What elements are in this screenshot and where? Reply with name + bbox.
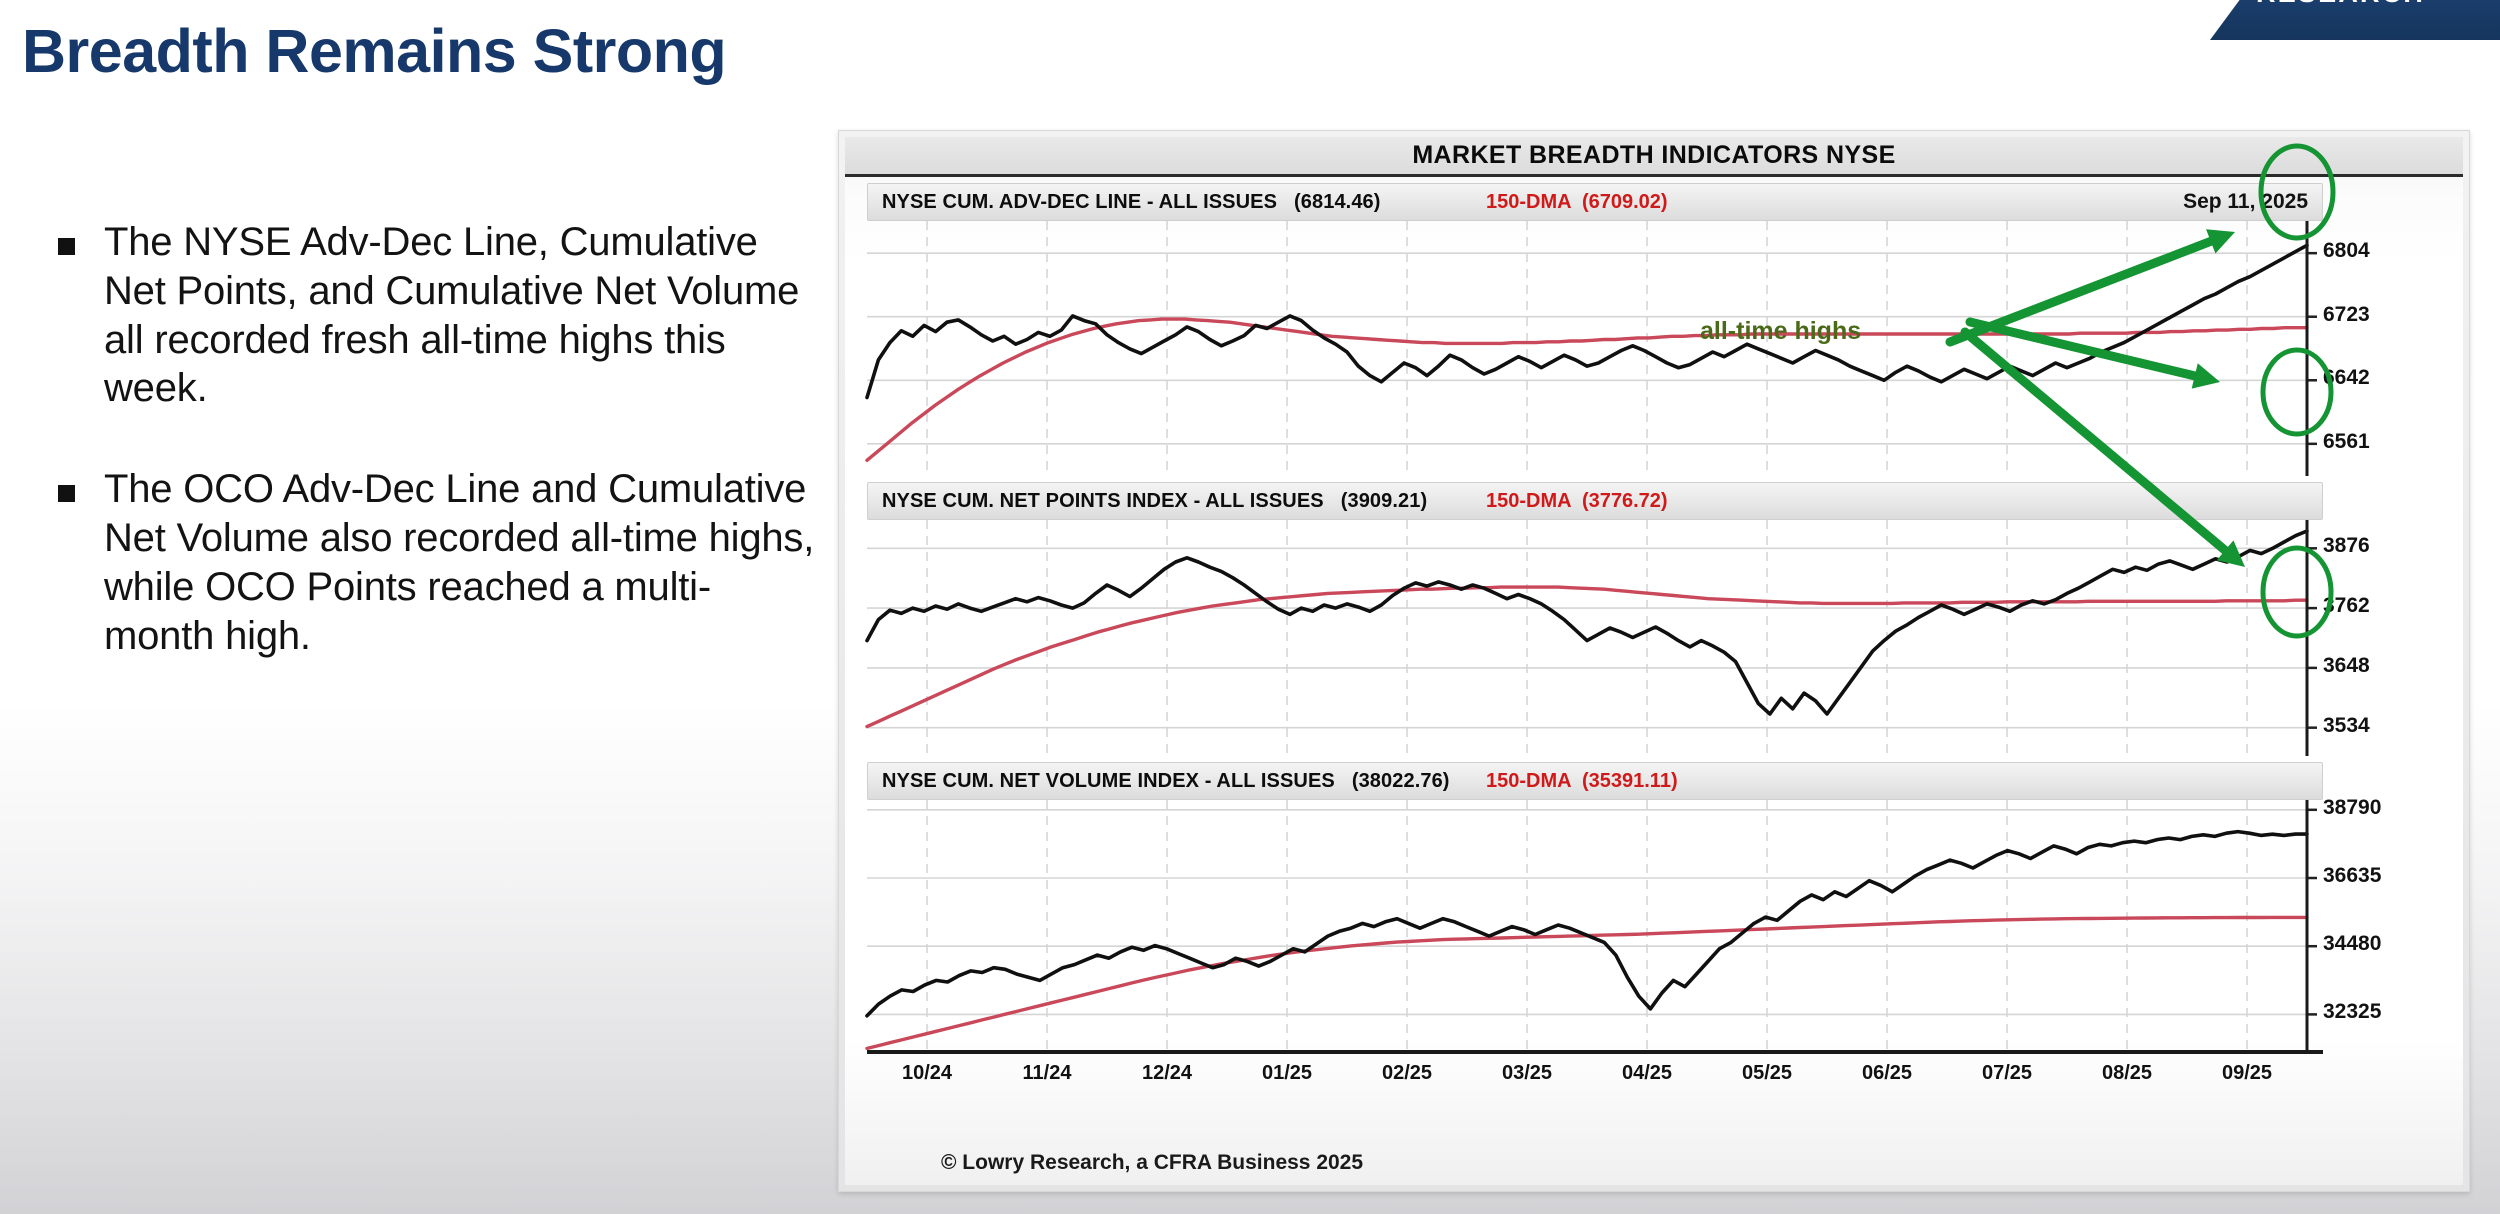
- panel-header: NYSE CUM. ADV-DEC LINE - ALL ISSUES (681…: [867, 183, 2323, 221]
- chart-panel-net-points: NYSE CUM. NET POINTS INDEX - ALL ISSUES …: [845, 482, 2463, 756]
- annotation-label: all-time highs: [1700, 317, 1861, 346]
- square-bullet-icon: [58, 485, 75, 502]
- y-axis-tick-label: 36635: [2323, 864, 2381, 888]
- plot-area-net-volume: 38790366353448032325: [845, 800, 2463, 1050]
- x-axis-tick-label: 12/24: [1142, 1062, 1192, 1085]
- panel-title-text: NYSE CUM. NET POINTS INDEX - ALL ISSUES: [882, 490, 1324, 512]
- panel-dma-label: 150-DMA: [1486, 770, 1571, 792]
- x-axis: 10/2411/2412/2401/2502/2503/2504/2505/25…: [867, 1050, 2323, 1096]
- panel-dma: 150-DMA (6709.02): [1486, 191, 1668, 214]
- chart-canvas: MARKET BREADTH INDICATORS NYSE NYSE CUM.…: [845, 137, 2463, 1185]
- panel-title: NYSE CUM. ADV-DEC LINE - ALL ISSUES (681…: [882, 191, 1381, 214]
- plot-area-adv-dec: 6804672366426561: [845, 221, 2463, 476]
- corner-banner: RESEARCH: [2210, 0, 2500, 40]
- panel-header: NYSE CUM. NET POINTS INDEX - ALL ISSUES …: [867, 482, 2323, 520]
- x-axis-tick-label: 05/25: [1742, 1062, 1792, 1085]
- y-axis-tick-label: 3534: [2323, 714, 2370, 738]
- y-axis-tick-label: 3876: [2323, 534, 2370, 558]
- panel-dma-value: (3776.72): [1582, 490, 1668, 512]
- panel-latest-value: (6814.46): [1294, 191, 1381, 213]
- panel-title-text: NYSE CUM. NET VOLUME INDEX - ALL ISSUES: [882, 770, 1335, 792]
- panel-dma-value: (35391.11): [1582, 770, 1678, 792]
- panel-dma: 150-DMA (3776.72): [1486, 490, 1668, 513]
- panel-header: NYSE CUM. NET VOLUME INDEX - ALL ISSUES …: [867, 762, 2323, 800]
- y-axis-tick-label: 3762: [2323, 594, 2370, 618]
- chart-image-frame: MARKET BREADTH INDICATORS NYSE NYSE CUM.…: [838, 130, 2470, 1192]
- chart-title-bar: MARKET BREADTH INDICATORS NYSE: [845, 137, 2463, 177]
- x-axis-tick-label: 01/25: [1262, 1062, 1312, 1085]
- list-item: The NYSE Adv-Dec Line, Cumulative Net Po…: [30, 218, 820, 413]
- y-axis-tick-label: 34480: [2323, 932, 2381, 956]
- x-axis-tick-label: 03/25: [1502, 1062, 1552, 1085]
- x-axis-tick-label: 04/25: [1622, 1062, 1672, 1085]
- y-axis-tick-label: 3648: [2323, 654, 2370, 678]
- page-title: Breadth Remains Strong: [22, 16, 726, 86]
- x-axis-tick-label: 07/25: [1982, 1062, 2032, 1085]
- x-axis-tick-label: 10/24: [902, 1062, 952, 1085]
- chart-as-of-date: Sep 11, 2025: [2183, 190, 2308, 214]
- panel-dma-label: 150-DMA: [1486, 490, 1571, 512]
- chart-copyright: © Lowry Research, a CFRA Business 2025: [941, 1151, 1363, 1175]
- panel-dma: 150-DMA (35391.11): [1486, 770, 1678, 793]
- list-item: The OCO Adv-Dec Line and Cumulative Net …: [30, 465, 820, 660]
- bullet-list: The NYSE Adv-Dec Line, Cumulative Net Po…: [30, 218, 820, 712]
- bullet-text: The OCO Adv-Dec Line and Cumulative Net …: [104, 465, 820, 660]
- panel-title: NYSE CUM. NET VOLUME INDEX - ALL ISSUES …: [882, 770, 1450, 793]
- x-axis-tick-label: 06/25: [1862, 1062, 1912, 1085]
- panel-latest-value: (3909.21): [1341, 490, 1428, 512]
- panel-dma-label: 150-DMA: [1486, 191, 1571, 213]
- plot-area-net-points: 3876376236483534: [845, 520, 2463, 756]
- panel-title-text: NYSE CUM. ADV-DEC LINE - ALL ISSUES: [882, 191, 1277, 213]
- x-axis-tick-label: 08/25: [2102, 1062, 2152, 1085]
- y-axis-tick-label: 6723: [2323, 303, 2370, 327]
- x-axis-tick-label: 02/25: [1382, 1062, 1432, 1085]
- x-axis-tick-label: 09/25: [2222, 1062, 2272, 1085]
- y-axis-tick-label: 32325: [2323, 1000, 2381, 1024]
- panel-latest-value: (38022.76): [1352, 770, 1450, 792]
- panel-dma-value: (6709.02): [1582, 191, 1668, 213]
- y-axis-tick-label: 38790: [2323, 796, 2381, 820]
- x-axis-tick-label: 11/24: [1023, 1062, 1072, 1085]
- corner-banner-label: RESEARCH: [2256, 0, 2425, 9]
- square-bullet-icon: [58, 238, 75, 255]
- panel-title: NYSE CUM. NET POINTS INDEX - ALL ISSUES …: [882, 490, 1427, 513]
- chart-panel-net-volume: NYSE CUM. NET VOLUME INDEX - ALL ISSUES …: [845, 762, 2463, 1050]
- y-axis-tick-label: 6561: [2323, 430, 2370, 454]
- y-axis-tick-label: 6642: [2323, 366, 2370, 390]
- chart-panel-adv-dec: NYSE CUM. ADV-DEC LINE - ALL ISSUES (681…: [845, 183, 2463, 476]
- chart-title: MARKET BREADTH INDICATORS NYSE: [845, 141, 2463, 170]
- bullet-text: The NYSE Adv-Dec Line, Cumulative Net Po…: [104, 218, 820, 413]
- y-axis-tick-label: 6804: [2323, 239, 2370, 263]
